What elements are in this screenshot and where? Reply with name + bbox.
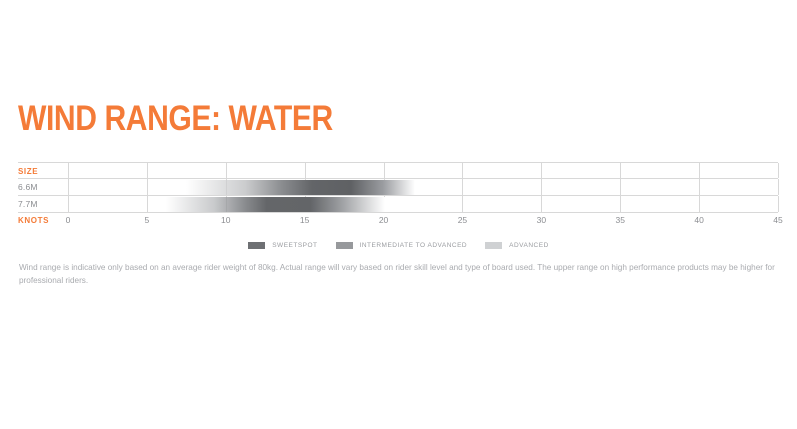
- axis-tick: 30: [537, 215, 546, 225]
- axis-tick-labels: 0 5 10 15 20 25 30 35 40 45: [68, 213, 778, 229]
- chart-header-row: SIZE: [18, 162, 778, 179]
- axis-tick: 0: [66, 215, 71, 225]
- axis-tick: 10: [221, 215, 230, 225]
- table-row: 7.7M: [18, 196, 778, 213]
- header-gridlines: [68, 163, 778, 178]
- axis-tick: 45: [773, 215, 782, 225]
- legend-item-sweetspot: SWEETSPOT: [248, 242, 317, 249]
- axis-tick: 5: [145, 215, 150, 225]
- size-column-header: SIZE: [18, 163, 68, 180]
- axis-tick: 25: [458, 215, 467, 225]
- legend-swatch-icon: [336, 242, 353, 249]
- axis-tick: 40: [694, 215, 703, 225]
- chart-legend: SWEETSPOT INTERMEDIATE TO ADVANCED ADVAN…: [0, 242, 797, 249]
- table-row: 6.6M: [18, 179, 778, 196]
- row-plot-area: [68, 179, 778, 195]
- row-plot-area: [68, 196, 778, 212]
- knots-axis-label: KNOTS: [18, 213, 49, 229]
- chart-footnote: Wind range is indicative only based on a…: [19, 262, 781, 287]
- page-title: WIND RANGE: WATER: [18, 100, 333, 138]
- axis-tick: 35: [615, 215, 624, 225]
- axis-tick: 20: [379, 215, 388, 225]
- wind-range-chart: SIZE 6.6M: [18, 162, 778, 213]
- legend-swatch-icon: [485, 242, 502, 249]
- legend-swatch-icon: [248, 242, 265, 249]
- row-label-size: 7.7M: [18, 196, 68, 213]
- legend-label: SWEETSPOT: [272, 242, 317, 249]
- chart-x-axis: KNOTS 0 5 10 15 20 25 30 35 40 45: [18, 213, 778, 229]
- axis-tick: 15: [300, 215, 309, 225]
- wind-range-bar: [166, 197, 385, 212]
- row-label-size: 6.6M: [18, 179, 68, 196]
- legend-item-advanced: ADVANCED: [485, 242, 549, 249]
- legend-label: INTERMEDIATE TO ADVANCED: [360, 242, 468, 249]
- legend-label: ADVANCED: [509, 242, 549, 249]
- legend-item-intermediate-to-advanced: INTERMEDIATE TO ADVANCED: [336, 242, 468, 249]
- wind-range-bar: [186, 180, 415, 195]
